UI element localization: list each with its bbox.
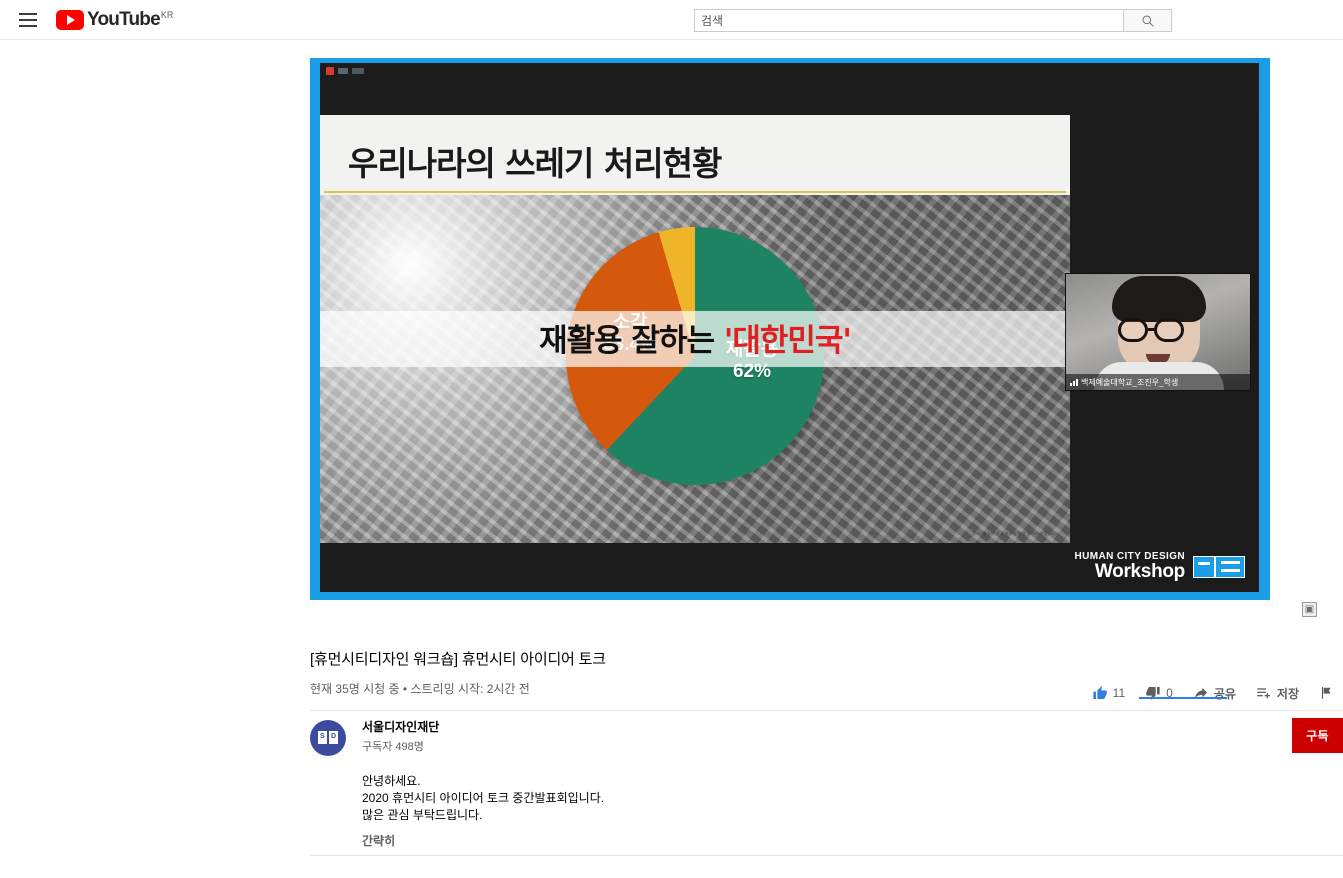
subscriber-count: 구독자 498명 (362, 738, 1343, 754)
save-to-playlist-icon (1256, 685, 1272, 701)
workshop-branding: HUMAN CITY DESIGN Workshop (1074, 552, 1245, 582)
slide-overlay-prefix: 재활용 잘하는 (539, 323, 724, 359)
workshop-logo-icon (1193, 552, 1245, 582)
search-button[interactable] (1124, 9, 1172, 32)
speaker-webcam-tile[interactable]: 백제예술대학교_조진우_학생 (1065, 273, 1251, 391)
channel-name[interactable]: 서울디자인재단 (362, 718, 1343, 735)
shared-screen-area: 우리나라의 쓰레기 처리현황 출처: 환경부 전국 폐기물 발생 및 처리현황,… (320, 63, 1259, 592)
like-count: 11 (1113, 686, 1125, 700)
video-meta-row: 현재 35명 시청 중 • 스트리밍 시작: 2시간 전 11 0 공유 (310, 680, 1343, 706)
workshop-branding-text: HUMAN CITY DESIGN Workshop (1074, 552, 1185, 582)
webcam-glasses-bridge (1148, 328, 1156, 331)
description-divider (310, 855, 1343, 856)
info-divider (310, 710, 1343, 711)
record-icon (326, 67, 334, 75)
thumbs-up-icon (1092, 685, 1108, 701)
webcam-participant-name: 백제예술대학교_조진우_학생 (1081, 377, 1178, 388)
webcam-glasses-left (1118, 318, 1148, 342)
slide-overlay-text: 재활용 잘하는 '대한민국' (320, 315, 1070, 360)
conference-toolbar-icons (326, 67, 364, 75)
video-player[interactable]: 우리나라의 쓰레기 처리현황 출처: 환경부 전국 폐기물 발생 및 처리현황,… (310, 58, 1270, 600)
show-less-button[interactable]: 간략히 (362, 832, 1343, 849)
video-action-bar: 11 0 공유 (1082, 680, 1343, 706)
toolbar-icon-b (352, 68, 364, 74)
video-title: [휴먼시티디자인 워크숍] 휴먼시티 아이디어 토크 (310, 648, 1343, 669)
channel-owner-section: 서울디자인재단 구독자 498명 안녕하세요. 2020 휴먼시티 아이디어 토… (310, 718, 1343, 849)
youtube-logo[interactable]: YouTube KR (56, 10, 173, 30)
search-input[interactable] (694, 9, 1124, 32)
slide-title-rule (324, 191, 1066, 193)
youtube-country-code: KR (161, 11, 174, 20)
webcam-name-bar: 백제예술대학교_조진우_학생 (1066, 374, 1250, 390)
subscribe-button[interactable]: 구독 (1292, 718, 1343, 753)
like-dislike-underline (1139, 697, 1227, 699)
video-info-section: [휴먼시티디자인 워크숍] 휴먼시티 아이디어 토크 현재 35명 시청 중 •… (310, 648, 1343, 706)
view-count-and-stream-time: 현재 35명 시청 중 • 스트리밍 시작: 2시간 전 (310, 680, 530, 697)
description-line-2: 2020 휴먼시티 아이디어 토크 중간발표회입니다. (362, 791, 1343, 807)
youtube-wordmark: YouTube (87, 10, 160, 29)
save-label: 저장 (1277, 685, 1299, 702)
masthead: YouTube KR (0, 0, 1343, 40)
dislike-button[interactable]: 0 (1135, 680, 1183, 706)
search-bar (694, 9, 1172, 32)
search-icon (1141, 14, 1155, 28)
toolbar-icon-a (338, 68, 348, 74)
description-line-1: 안녕하세요. (362, 774, 1343, 790)
avatar-mark-right (329, 731, 338, 744)
slide-title: 우리나라의 쓰레기 처리현황 (348, 137, 721, 185)
share-button[interactable]: 공유 (1183, 680, 1246, 706)
like-button[interactable]: 11 (1082, 680, 1135, 706)
flag-icon (1319, 685, 1333, 701)
description-line-3: 많은 관심 부탁드립니다. (362, 808, 1343, 824)
report-button[interactable] (1309, 680, 1343, 706)
signal-bars-icon (1070, 378, 1078, 386)
webcam-hair (1112, 276, 1206, 322)
slide-source-note: 출처: 환경부 전국 폐기물 발생 및 처리현황, 2017 (973, 531, 1060, 537)
webcam-glasses-right (1154, 318, 1184, 342)
channel-avatar[interactable] (310, 720, 346, 756)
video-description: 안녕하세요. 2020 휴먼시티 아이디어 토크 중간발표회입니다. 많은 관심… (362, 774, 1343, 823)
guide-menu-icon[interactable] (16, 8, 40, 32)
slide-overlay-highlight: '대한민국' (724, 323, 851, 359)
channel-details: 서울디자인재단 구독자 498명 안녕하세요. 2020 휴먼시티 아이디어 토… (362, 718, 1343, 849)
save-button[interactable]: 저장 (1246, 680, 1309, 706)
avatar-mark-left (318, 731, 327, 744)
broken-image-icon: ▣ (1302, 602, 1317, 617)
conference-toolbar (320, 63, 1259, 115)
youtube-play-icon (56, 10, 84, 30)
presentation-slide: 우리나라의 쓰레기 처리현황 출처: 환경부 전국 폐기물 발생 및 처리현황,… (320, 115, 1070, 543)
workshop-branding-line2: Workshop (1074, 562, 1185, 582)
